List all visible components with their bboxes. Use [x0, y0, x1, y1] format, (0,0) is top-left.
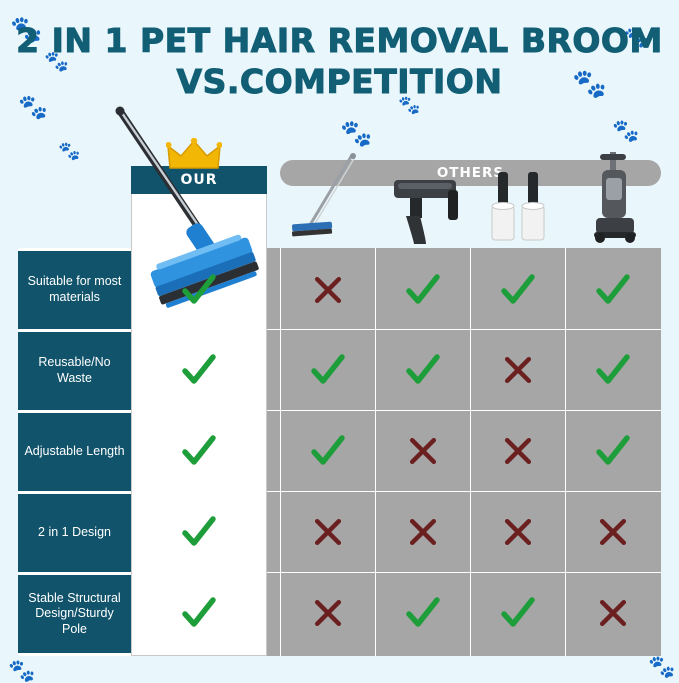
lint-roller-image	[388, 176, 468, 248]
cell-mark-cross	[403, 431, 443, 471]
check-icon	[593, 431, 633, 471]
vacuum-cleaner-image	[586, 152, 646, 248]
cross-icon	[405, 433, 441, 469]
check-icon	[179, 431, 219, 471]
column-divider	[565, 248, 566, 656]
squeegee-mop-image	[286, 153, 374, 248]
cross-icon	[500, 514, 536, 550]
cross-icon	[310, 595, 346, 631]
check-icon	[403, 270, 443, 310]
check-icon	[308, 350, 348, 390]
title-line-2: VS.COMPETITION	[0, 61, 679, 102]
cell-mark-check	[179, 270, 219, 310]
cell-mark-cross	[403, 512, 443, 552]
cell-mark-cross	[498, 350, 538, 390]
check-icon	[403, 350, 443, 390]
cell-mark-check	[498, 593, 538, 633]
check-icon	[403, 593, 443, 633]
cell-mark-cross	[308, 270, 348, 310]
cross-icon	[500, 433, 536, 469]
cell-mark-check	[179, 431, 219, 471]
comparison-table: OTHERS Suitable for most materials Reusa…	[18, 248, 661, 656]
sticky-rollers-image	[488, 170, 558, 248]
check-icon	[179, 512, 219, 552]
cell-mark-check	[593, 270, 633, 310]
crown-icon	[166, 138, 222, 172]
cross-icon	[405, 514, 441, 550]
check-icon	[593, 270, 633, 310]
cell-mark-check	[403, 350, 443, 390]
title-line-1: 2 IN 1 PET HAIR REMOVAL BROOM	[0, 20, 679, 61]
paw-print-icon: 🐾	[340, 120, 372, 146]
cell-mark-cross	[498, 512, 538, 552]
check-icon	[308, 431, 348, 471]
check-icon	[179, 593, 219, 633]
cell-mark-cross	[308, 512, 348, 552]
cell-mark-check	[498, 270, 538, 310]
cross-icon	[595, 595, 631, 631]
cell-mark-cross	[593, 593, 633, 633]
check-icon	[179, 350, 219, 390]
feature-label-4: Stable Structural Design/Sturdy Pole	[18, 575, 131, 653]
check-icon	[498, 593, 538, 633]
cross-icon	[310, 272, 346, 308]
cell-mark-check	[308, 350, 348, 390]
cross-icon	[500, 352, 536, 388]
paw-print-icon: 🐾	[612, 120, 639, 142]
cell-mark-cross	[593, 512, 633, 552]
check-icon	[179, 270, 219, 310]
column-divider	[375, 248, 376, 656]
cell-mark-cross	[308, 593, 348, 633]
cell-mark-check	[179, 593, 219, 633]
check-icon	[593, 350, 633, 390]
cell-mark-cross	[498, 431, 538, 471]
cell-mark-check	[179, 512, 219, 552]
cell-mark-check	[403, 593, 443, 633]
column-divider	[470, 248, 471, 656]
cross-icon	[310, 514, 346, 550]
page-title: 2 IN 1 PET HAIR REMOVAL BROOM VS.COMPETI…	[0, 20, 679, 103]
cross-icon	[595, 514, 631, 550]
paw-print-icon: 🐾	[648, 656, 675, 678]
cell-mark-check	[593, 431, 633, 471]
cell-mark-check	[403, 270, 443, 310]
cell-mark-check	[179, 350, 219, 390]
paw-print-icon: 🐾	[58, 142, 80, 160]
cell-mark-check	[308, 431, 348, 471]
feature-label-2: Adjustable Length	[18, 413, 131, 491]
cell-mark-check	[593, 350, 633, 390]
check-icon	[498, 270, 538, 310]
feature-label-1: Reusable/No Waste	[18, 332, 131, 410]
feature-label-3: 2 in 1 Design	[18, 494, 131, 572]
